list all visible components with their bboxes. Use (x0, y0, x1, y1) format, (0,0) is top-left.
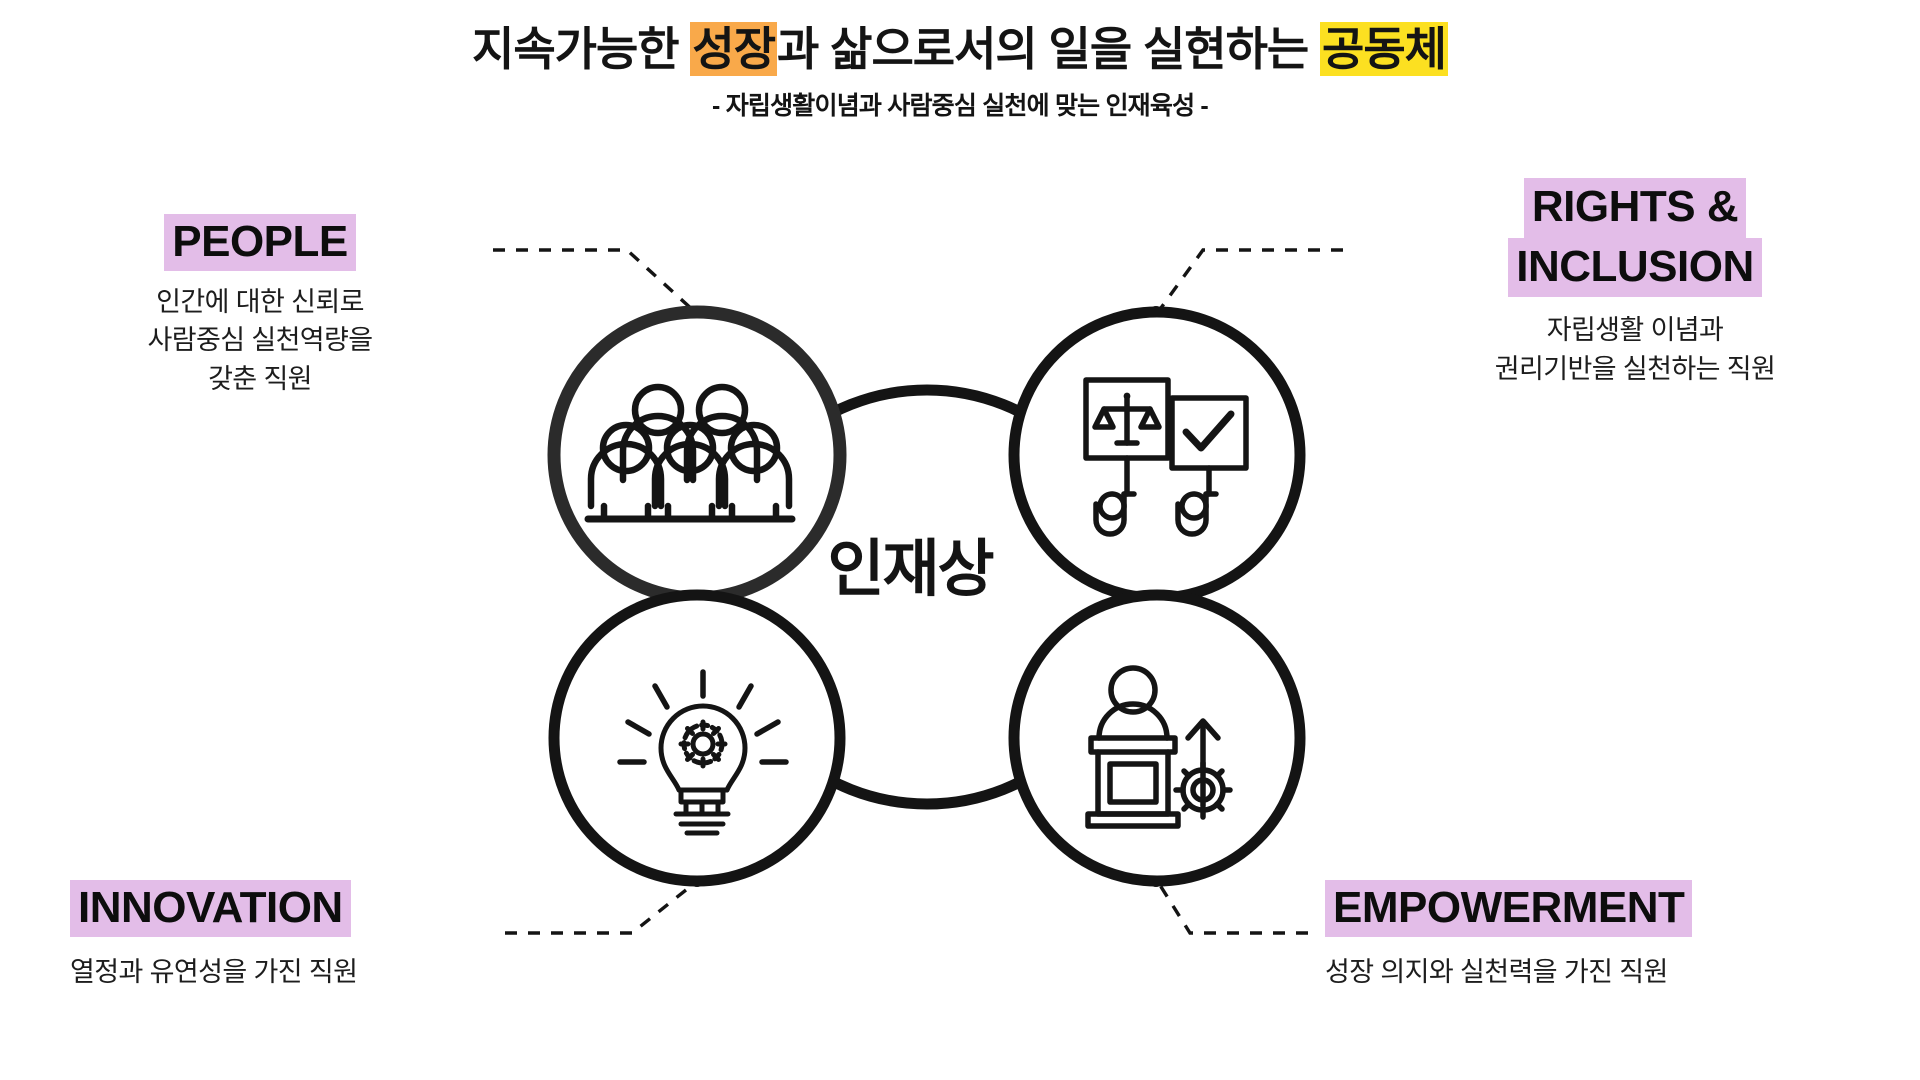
page-subtitle: - 자립생활이념과 사람중심 실천에 맞는 인재육성 - (0, 86, 1920, 122)
quadrant-title-rights: RIGHTS & INCLUSION (1400, 178, 1870, 297)
center-label: 인재상 (760, 518, 1060, 608)
quadrant-title-innovation: INNOVATION (70, 880, 510, 937)
title-highlight-growth: 성장 (690, 22, 777, 76)
quadrant-title-people-line-1: PEOPLE (164, 214, 356, 271)
title-part-mid: 과 삶으로서의 일을 실현하는 (777, 23, 1320, 75)
connector-dot-rights (1148, 306, 1164, 322)
connector-innovation (505, 882, 696, 933)
lightbulb-gear-icon (620, 672, 786, 833)
page-title: 지속가능한 성장과 삶으로서의 일을 실현하는 공동체 (0, 22, 1920, 76)
quadrant-title-empowerment: EMPOWERMENT (1325, 880, 1865, 937)
quadrant-title-empowerment-line-1: EMPOWERMENT (1325, 880, 1692, 937)
connector-people (493, 250, 695, 312)
quadrant-label-innovation[interactable]: INNOVATION 열정과 유연성을 가진 직원 (70, 880, 510, 991)
connector-dot-empowerment (1148, 871, 1164, 887)
connector-rights (1158, 250, 1343, 312)
quadrant-desc-rights-line-1: 자립생활 이념과 (1400, 311, 1870, 349)
quadrant-label-rights[interactable]: RIGHTS & INCLUSION 자립생활 이념과 권리기반을 실천하는 직… (1400, 178, 1870, 388)
quadrant-desc-rights-line-2: 권리기반을 실천하는 직원 (1400, 350, 1870, 388)
quadrant-title-rights-line-2: INCLUSION (1508, 238, 1762, 298)
group-of-people-icon (588, 387, 792, 519)
quadrant-title-innovation-line-1: INNOVATION (70, 880, 351, 937)
connector-dot-innovation (689, 871, 705, 887)
connector-dot-people (689, 306, 705, 322)
quadrant-desc-innovation: 열정과 유연성을 가진 직원 (70, 953, 510, 991)
connector-empowerment (1158, 882, 1308, 933)
quadrant-desc-empowerment: 성장 의지와 실천력을 가진 직원 (1325, 953, 1865, 991)
quadrant-label-empowerment[interactable]: EMPOWERMENT 성장 의지와 실천력을 가진 직원 (1325, 880, 1865, 991)
title-part-pre: 지속가능한 (472, 23, 690, 75)
quadrant-desc-rights: 자립생활 이념과 권리기반을 실천하는 직원 (1400, 311, 1870, 388)
quadrant-desc-empowerment-line-1: 성장 의지와 실천력을 가진 직원 (1325, 953, 1865, 991)
quadrant-desc-people-line-3: 갖춘 직원 (60, 360, 460, 398)
quadrant-title-people: PEOPLE (60, 214, 460, 271)
quadrant-desc-people-line-1: 인간에 대한 신뢰로 (60, 283, 460, 321)
quadrant-label-people[interactable]: PEOPLE 인간에 대한 신뢰로 사람중심 실천역량을 갖춘 직원 (60, 214, 460, 398)
node-circle-innovation[interactable] (554, 595, 840, 881)
header-block: 지속가능한 성장과 삶으로서의 일을 실현하는 공동체 - 자립생활이념과 사람… (0, 22, 1920, 122)
quadrant-desc-innovation-line-1: 열정과 유연성을 가진 직원 (70, 953, 510, 991)
quadrant-desc-people-line-2: 사람중심 실천역량을 (60, 321, 460, 359)
quadrant-title-rights-line-1: RIGHTS & (1524, 178, 1746, 238)
podium-person-arrow-gear-icon (1088, 668, 1230, 826)
title-highlight-community: 공동체 (1320, 22, 1448, 76)
node-circle-empowerment[interactable] (1014, 595, 1300, 881)
quadrant-desc-people: 인간에 대한 신뢰로 사람중심 실천역량을 갖춘 직원 (60, 283, 460, 398)
protest-signs-scales-checkmark-icon (1086, 380, 1246, 534)
